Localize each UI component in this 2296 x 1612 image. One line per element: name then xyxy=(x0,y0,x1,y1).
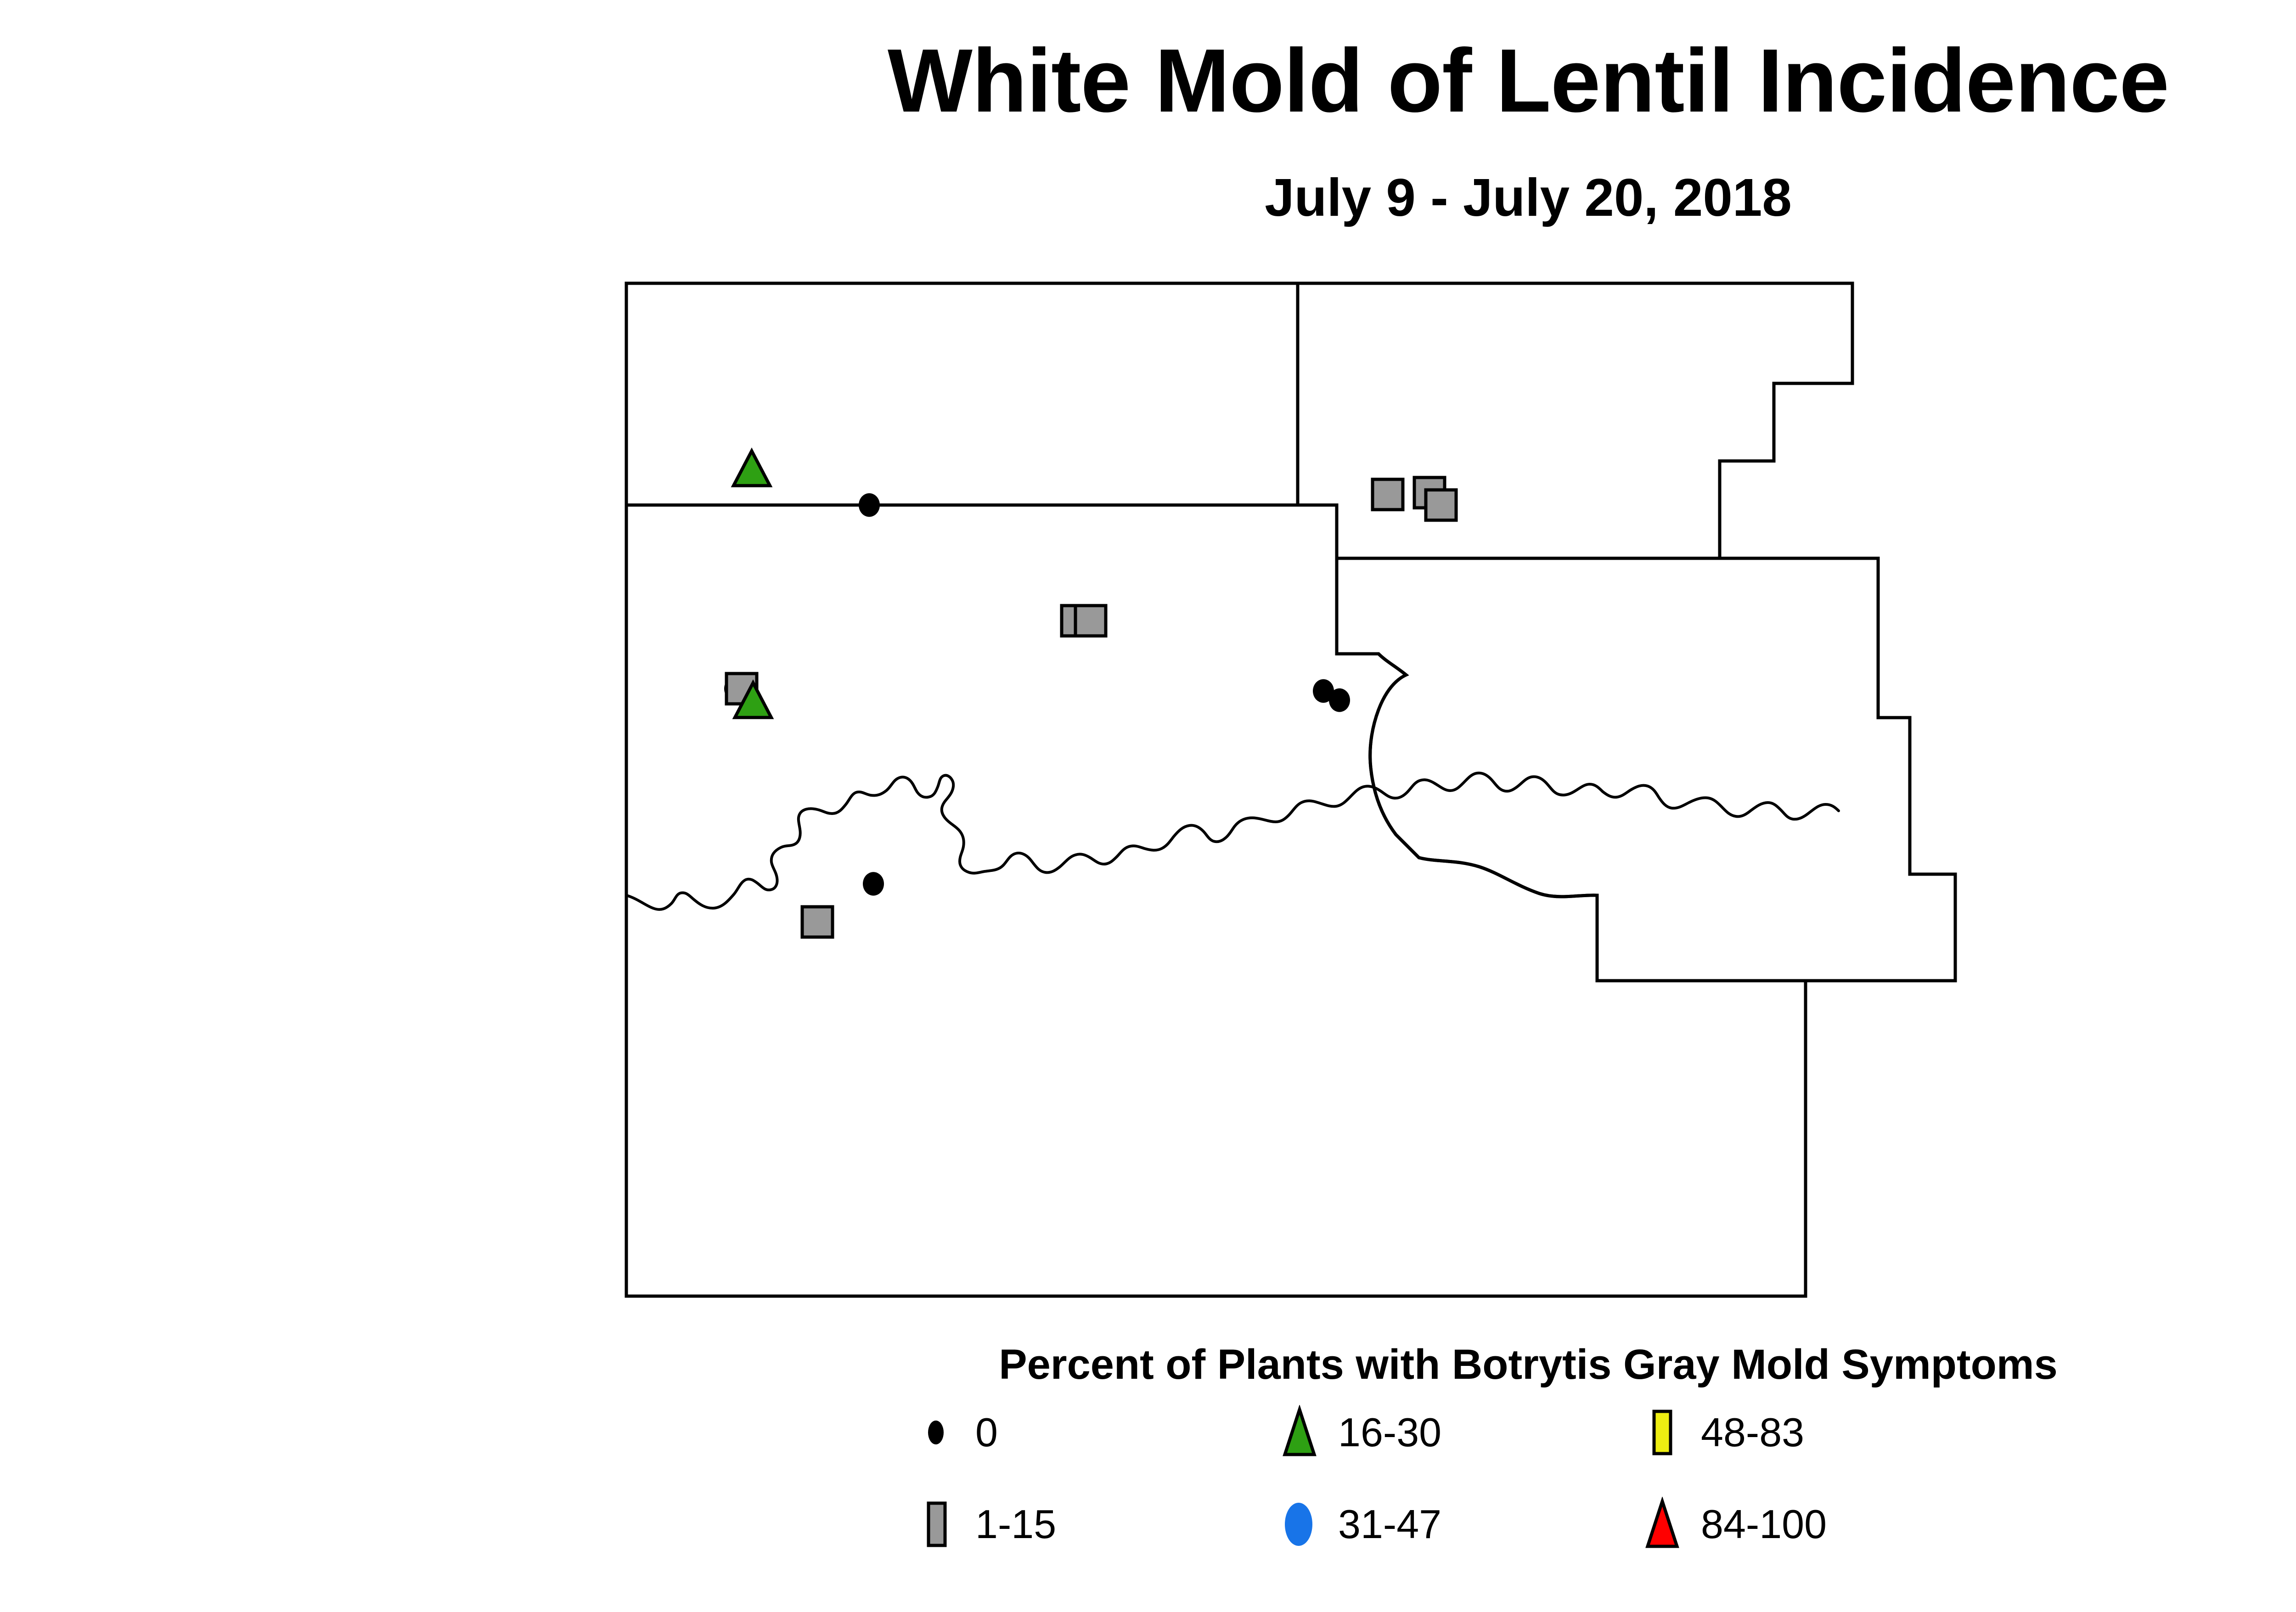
legend-symbol-triangle xyxy=(1285,1410,1314,1455)
river-path-east xyxy=(1603,786,1839,820)
legend-title: Percent of Plants with Botrytis Gray Mol… xyxy=(0,1341,2296,1389)
county-outline-nw xyxy=(626,283,1298,505)
legend-triangle-icon xyxy=(1635,1497,1694,1552)
map-marker-circle xyxy=(859,493,880,517)
map-marker-square xyxy=(1426,490,1456,520)
legend-item: 0 xyxy=(909,1405,998,1460)
legend-item-label: 16-30 xyxy=(1338,1409,1441,1456)
legend-item: 84-100 xyxy=(1635,1497,1827,1552)
map-marker-square xyxy=(802,907,833,937)
legend-item-label: 84-100 xyxy=(1701,1501,1827,1548)
legend-item-label: 48-83 xyxy=(1701,1409,1804,1456)
county-outline-sw xyxy=(626,505,1806,1296)
legend-item-label: 31-47 xyxy=(1338,1501,1441,1548)
county-outline-ne xyxy=(1298,283,1852,558)
county-outline-east-central xyxy=(1337,558,1955,981)
legend-item: 48-83 xyxy=(1635,1405,1804,1460)
county-boundaries xyxy=(626,283,1955,1296)
legend-square-icon xyxy=(909,1497,969,1552)
legend-item: 1-15 xyxy=(909,1497,1056,1552)
river-path xyxy=(626,773,1603,910)
legend-symbol-square xyxy=(1654,1411,1671,1454)
legend-circle-icon xyxy=(909,1405,969,1460)
legend-item: 31-47 xyxy=(1272,1497,1441,1552)
legend: 01-1516-3031-4748-8384-100 xyxy=(909,1405,2011,1579)
legend-symbol-triangle xyxy=(1648,1501,1677,1546)
legend-item: 16-30 xyxy=(1272,1405,1441,1460)
river-boundary xyxy=(626,773,1839,910)
legend-symbol-square xyxy=(929,1503,945,1545)
map-marker-circle xyxy=(863,872,884,896)
map-marker-circle xyxy=(1329,688,1350,712)
legend-item-label: 0 xyxy=(975,1409,998,1456)
map-marker-triangle xyxy=(733,451,770,486)
map-marker-square xyxy=(1373,479,1403,510)
legend-square-icon xyxy=(1635,1405,1694,1460)
legend-item-label: 1-15 xyxy=(975,1501,1056,1548)
map-figure: White Mold of Lentil Incidence July 9 - … xyxy=(0,0,2296,1610)
legend-triangle-icon xyxy=(1272,1405,1332,1460)
legend-symbol-circle xyxy=(928,1421,944,1444)
legend-symbol-circle xyxy=(1285,1503,1312,1546)
map-marker-square xyxy=(1075,606,1106,636)
legend-circle-icon xyxy=(1272,1497,1332,1552)
data-markers xyxy=(724,451,1456,937)
